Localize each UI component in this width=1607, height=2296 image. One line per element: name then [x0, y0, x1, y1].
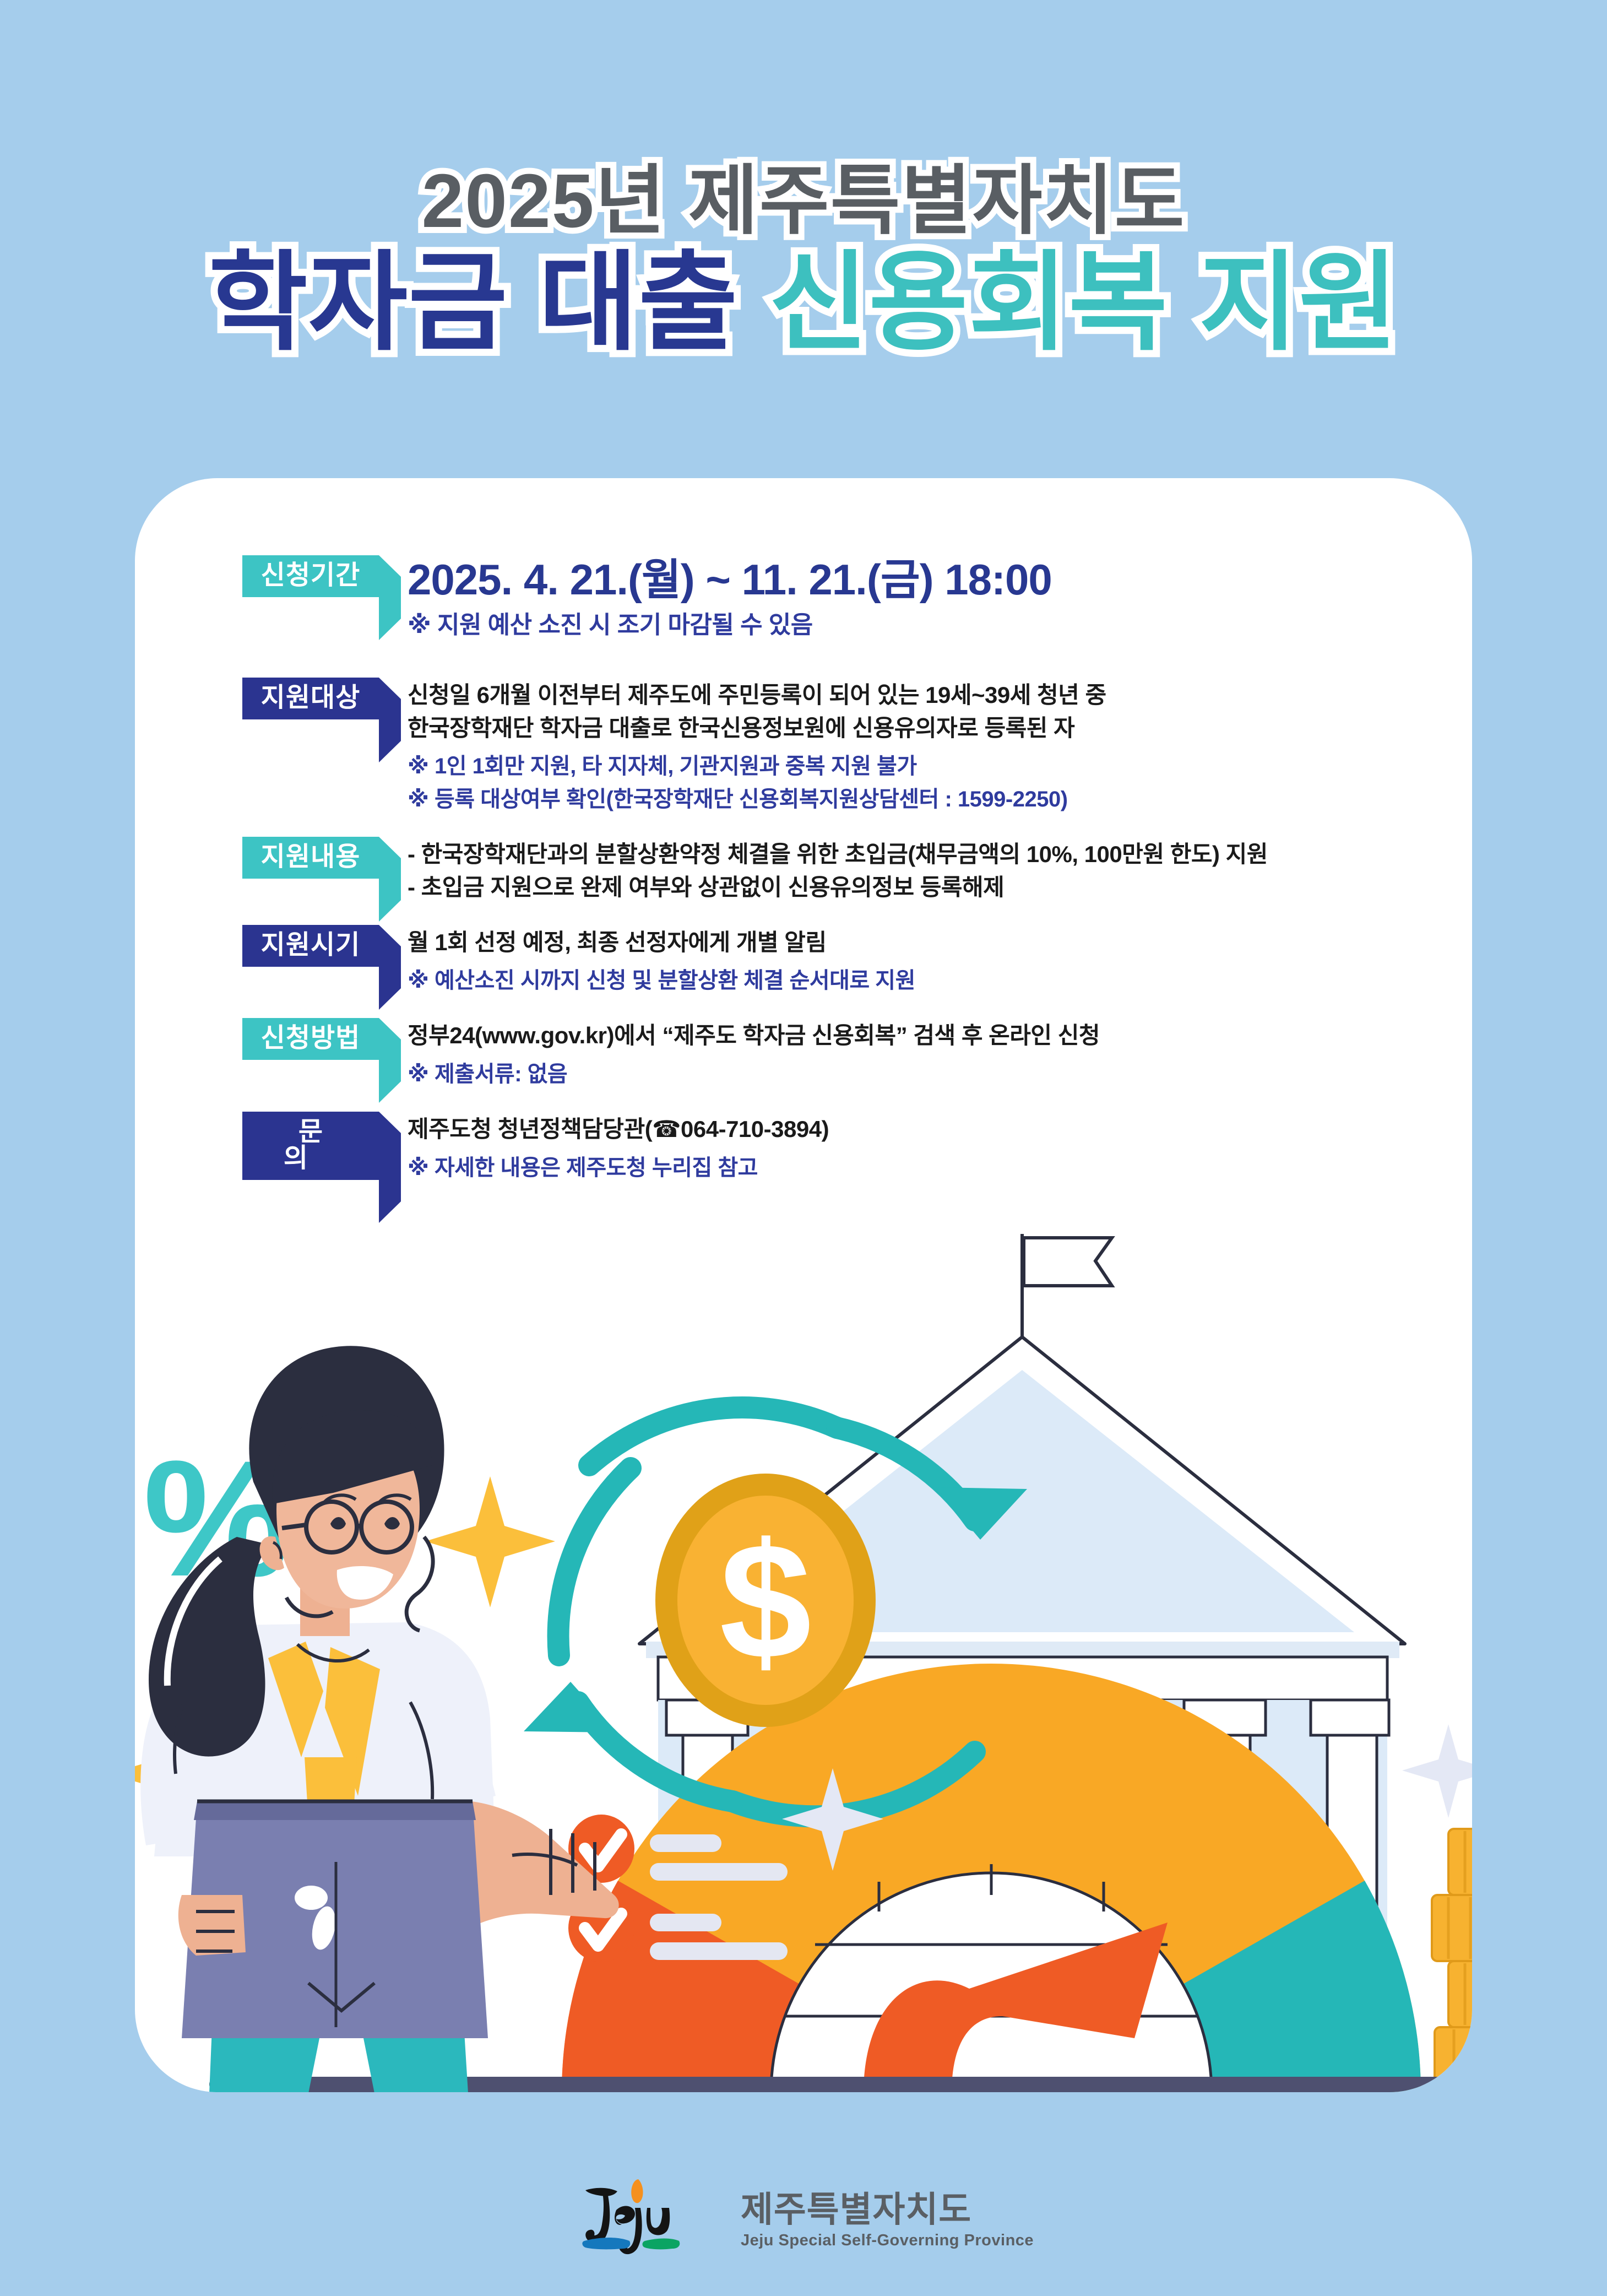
badge-support-details: 지원내용: [242, 837, 379, 879]
title-part-loan: 학자금 대출: [209, 242, 739, 363]
application-period-note: ※ 지원 예산 소진 시 조기 마감될 수 있음: [408, 607, 1454, 643]
how-to-apply-note: ※ 제출서류: 없음: [408, 1058, 1454, 1091]
how-to-apply-line-1: 정부24(www.gov.kr)에서 “제주도 학자금 신용회복” 검색 후 온…: [408, 1019, 1454, 1052]
badge-application-period: 신청기간: [242, 555, 379, 597]
footer-text: 제주특별자치도 Jeju Special Self-Governing Prov…: [741, 2190, 1034, 2249]
eligibility-line-2: 한국장학재단 학자금 대출로 한국신용정보원에 신용유의자로 등록된 자: [408, 712, 1454, 745]
info-row-contact: 문 의 제주도청 청년정책담당관(☎064-710-3894) ※ 자세한 내용…: [242, 1112, 1454, 1184]
eligibility-line-1: 신청일 6개월 이전부터 제주도에 주민등록이 되어 있는 19세~39세 청년…: [408, 679, 1454, 712]
badge-eligibility: 지원대상: [242, 678, 379, 719]
info-row-how-to-apply: 신청방법 정부24(www.gov.kr)에서 “제주도 학자금 신용회복” 검…: [242, 1018, 1454, 1091]
info-row-application-period: 신청기간 2025. 4. 21.(월) ~ 11. 21.(금) 18:00 …: [242, 555, 1454, 643]
eligibility-note-1: ※ 1인 1회만 지원, 타 지자체, 기관지원과 중복 지원 불가: [408, 750, 1454, 783]
jeju-brand-mark: [573, 2176, 722, 2264]
title-line-2: 학자금 대출 신용회복 지원: [0, 246, 1607, 360]
contact-line-1: 제주도청 청년정책담당관(☎064-710-3894): [408, 1113, 1454, 1146]
badge-contact: 문 의: [242, 1112, 379, 1180]
info-row-support-details: 지원내용 - 한국장학재단과의 분할상환약정 체결을 위한 초입금(채무금액의 …: [242, 837, 1454, 903]
contact-note: ※ 자세한 내용은 제주도청 누리집 참고: [408, 1151, 1454, 1184]
content-overlay: 신청기간 2025. 4. 21.(월) ~ 11. 21.(금) 18:00 …: [135, 478, 1472, 2092]
footer-org-en: Jeju Special Self-Governing Province: [741, 2232, 1034, 2250]
poster-title: 2025년 제주특별자치도 학자금 대출 신용회복 지원: [0, 160, 1607, 360]
info-list: 신청기간 2025. 4. 21.(월) ~ 11. 21.(금) 18:00 …: [242, 555, 1454, 1204]
title-line-1: 2025년 제주특별자치도: [0, 160, 1607, 243]
application-period-value: 2025. 4. 21.(월) ~ 11. 21.(금) 18:00: [408, 556, 1454, 603]
eligibility-note-2: ※ 등록 대상여부 확인(한국장학재단 신용회복지원상담센터 : 1599-22…: [408, 783, 1454, 816]
poster-root: { "title": { "line1": "2025년 제주특별자치도", "…: [0, 0, 1607, 2296]
badge-support-timing: 지원시기: [242, 925, 379, 967]
support-details-line-1: - 한국장학재단과의 분할상환약정 체결을 위한 초입금(채무금액의 10%, …: [408, 838, 1454, 871]
support-details-line-2: - 초입금 지원으로 완제 여부와 상관없이 신용유의정보 등록해제: [408, 871, 1454, 904]
badge-how-to-apply: 신청방법: [242, 1018, 379, 1060]
info-row-eligibility: 지원대상 신청일 6개월 이전부터 제주도에 주민등록이 되어 있는 19세~3…: [242, 678, 1454, 816]
footer-org-kr: 제주특별자치도: [741, 2190, 1034, 2229]
support-timing-line-1: 월 1회 선정 예정, 최종 선정자에게 개별 알림: [408, 926, 1454, 959]
support-timing-note: ※ 예산소진 시까지 신청 및 분할상환 체결 순서대로 지원: [408, 964, 1454, 997]
footer-logo-block: 제주특별자치도 Jeju Special Self-Governing Prov…: [0, 2176, 1607, 2264]
title-part-credit: 신용회복 지원: [769, 242, 1398, 363]
info-row-support-timing: 지원시기 월 1회 선정 예정, 최종 선정자에게 개별 알림 ※ 예산소진 시…: [242, 925, 1454, 998]
